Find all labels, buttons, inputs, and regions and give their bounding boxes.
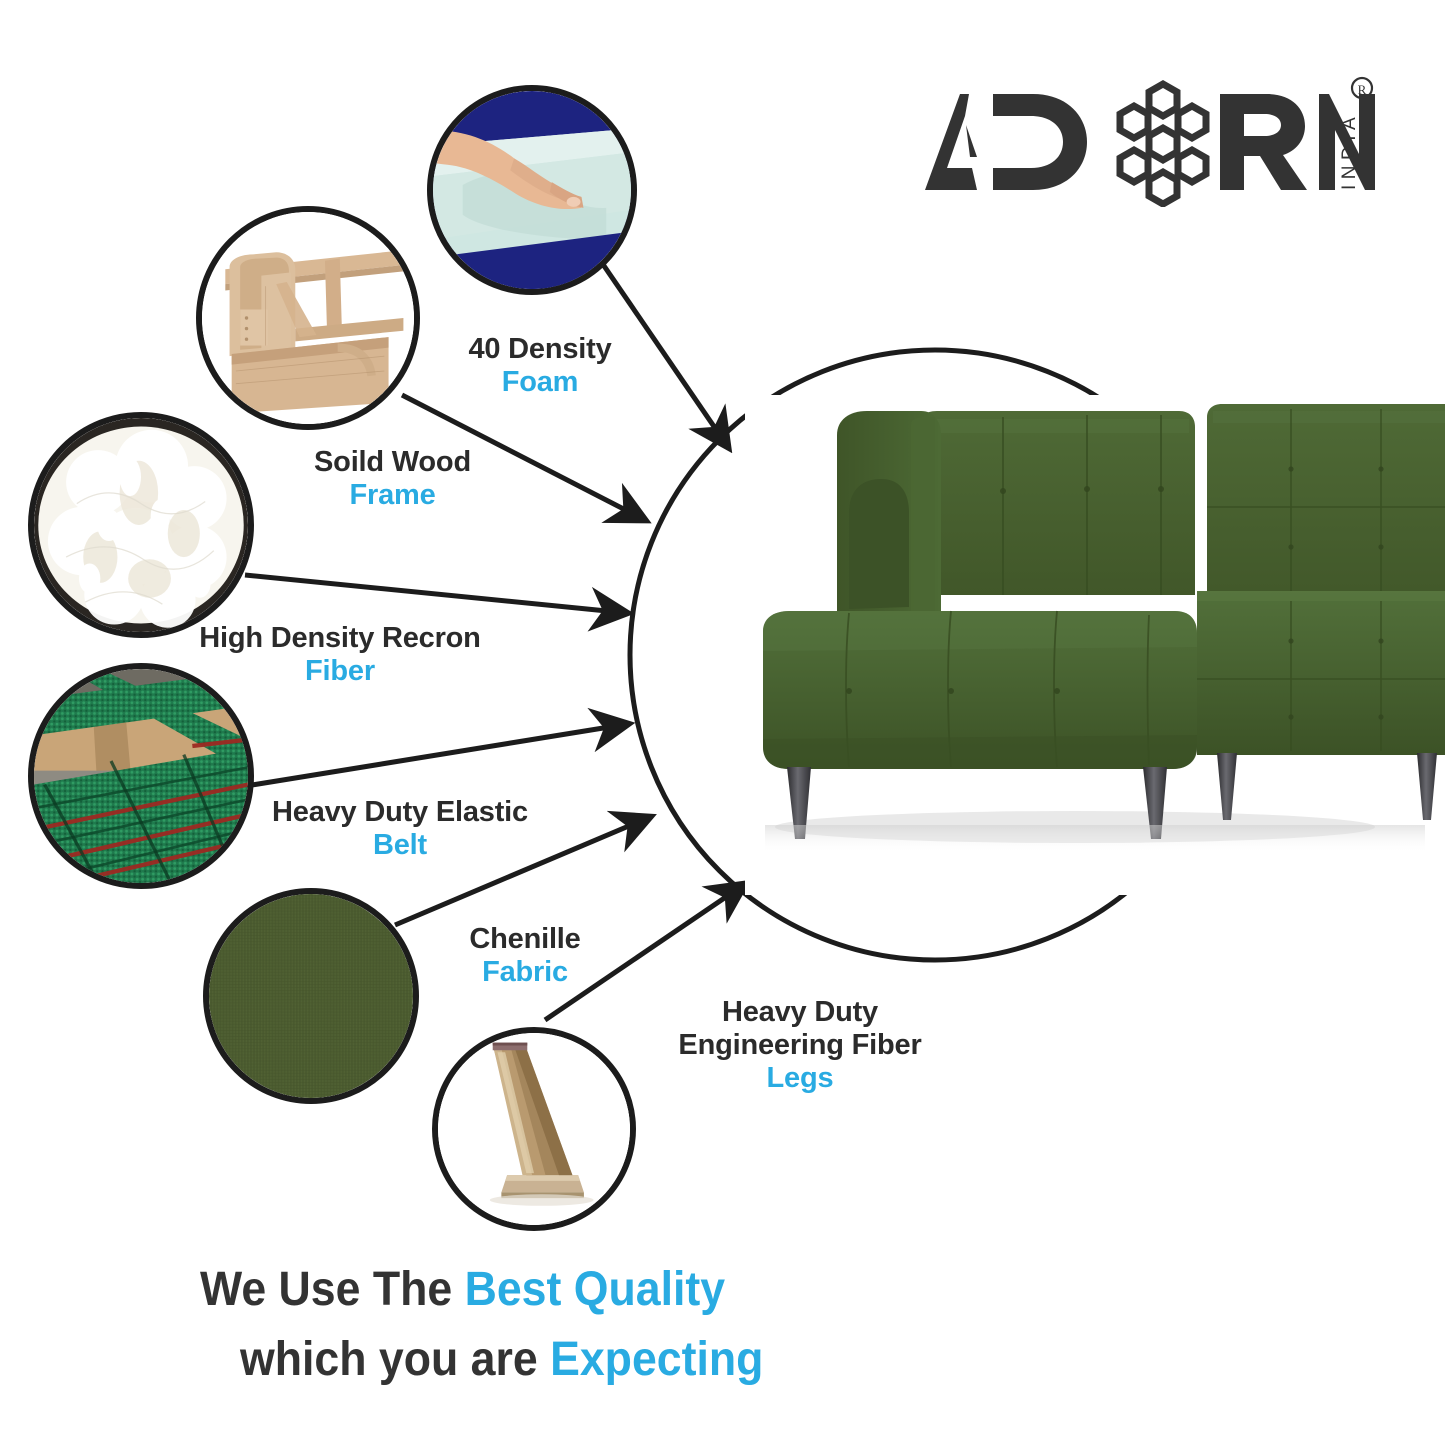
label-legs-line3: Legs — [655, 1062, 945, 1095]
thumb-wood-frame[interactable] — [196, 206, 420, 430]
label-legs-line2: Engineering Fiber — [655, 1029, 945, 1062]
label-legs: Heavy Duty Engineering Fiber Legs — [655, 996, 945, 1094]
elastic-belt-photo — [34, 669, 248, 883]
tagline-2-blue: Expecting — [550, 1333, 763, 1386]
recron-fiber-photo — [34, 418, 248, 632]
arrow-fiber — [245, 575, 627, 613]
logo-wordmark-icon — [925, 84, 1375, 204]
label-legs-line1: Heavy Duty — [655, 996, 945, 1029]
label-fabric-line2: Fabric — [430, 956, 620, 989]
hexagon-cluster-icon — [1120, 84, 1206, 204]
label-fiber-line2: Fiber — [180, 655, 500, 688]
label-belt-line1: Heavy Duty Elastic — [250, 796, 550, 829]
svg-text:INDIA: INDIA — [1339, 112, 1360, 190]
thumb-chenille-fabric[interactable] — [203, 888, 419, 1104]
thumb-recron-fiber[interactable] — [28, 412, 254, 638]
foam-photo — [433, 91, 631, 289]
tagline-1-blue: Best Quality — [465, 1263, 725, 1316]
thumb-elastic-belt[interactable] — [28, 663, 254, 889]
logo-india-text: INDIA — [1339, 112, 1360, 190]
label-belt: Heavy Duty Elastic Belt — [250, 796, 550, 862]
infographic-canvas: INDIA R — [0, 0, 1445, 1445]
svg-text:R: R — [1358, 82, 1367, 97]
label-fiber: High Density Recron Fiber — [180, 622, 500, 688]
tagline-line-2: which you are Expecting — [240, 1332, 763, 1387]
label-belt-line2: Belt — [250, 829, 550, 862]
sofa-leg-photo — [438, 1033, 630, 1225]
product-sofa-image — [745, 395, 1445, 895]
arrow-belt — [252, 724, 628, 785]
tagline-line-1: We Use The Best Quality — [200, 1262, 725, 1317]
thumb-foam[interactable] — [427, 85, 637, 295]
label-fabric-line1: Chenille — [430, 923, 620, 956]
tagline-2-dark: which you are — [240, 1333, 550, 1386]
label-fabric: Chenille Fabric — [430, 923, 620, 989]
registered-trademark-icon: R — [1352, 78, 1372, 98]
label-foam-line1: 40 Density — [405, 333, 675, 366]
label-frame-line2: Frame — [255, 479, 530, 512]
label-foam-line2: Foam — [405, 366, 675, 399]
label-frame: Soild Wood Frame — [255, 446, 530, 512]
label-frame-line1: Soild Wood — [255, 446, 530, 479]
thumb-sofa-leg[interactable] — [432, 1027, 636, 1231]
chenille-fabric-swatch — [209, 894, 413, 1098]
tagline-1-dark: We Use The — [200, 1263, 465, 1316]
wood-frame-photo — [202, 212, 414, 424]
brand-logo: INDIA R — [915, 72, 1375, 207]
label-foam: 40 Density Foam — [405, 333, 675, 399]
label-fiber-line1: High Density Recron — [180, 622, 500, 655]
